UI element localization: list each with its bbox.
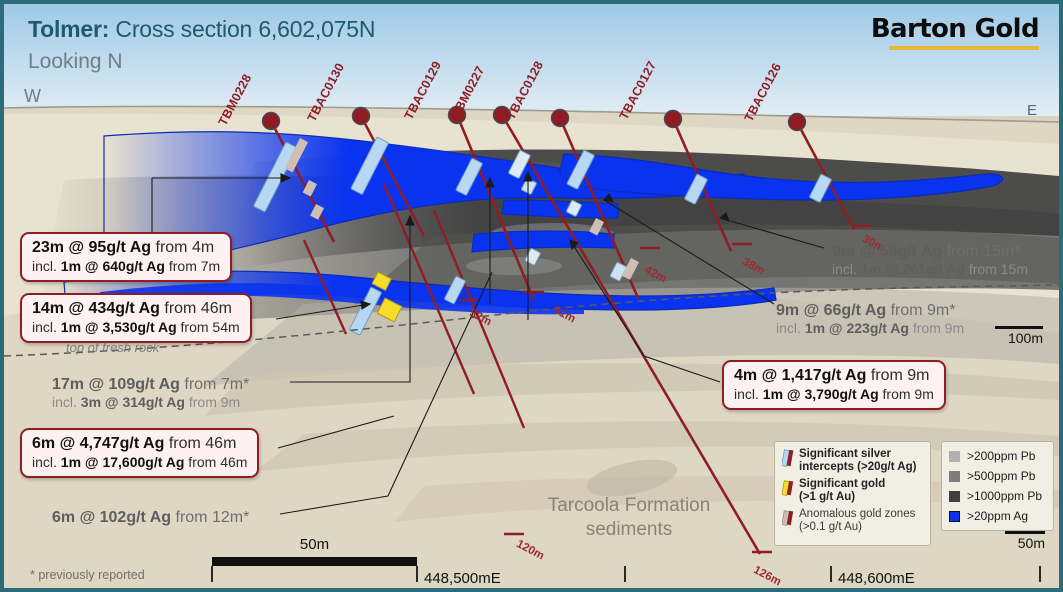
callout-incl-from: from 54m bbox=[177, 319, 240, 335]
legend-grade-row: >20ppm Ag bbox=[949, 509, 1048, 523]
logo-text: Barton Gold bbox=[871, 14, 1039, 44]
collar-TBAC0127 bbox=[665, 111, 682, 128]
au-bar-1 bbox=[372, 272, 391, 290]
note-line-2: incl. 3m @ 314g/t Ag from 9m bbox=[52, 394, 249, 411]
legend-symbol-line-1: Significant silver bbox=[799, 448, 916, 461]
callout-line-1: 14m @ 434g/t Ag from 46m bbox=[32, 300, 240, 319]
easting-tick-minor bbox=[211, 566, 213, 582]
intercept-note-p2: 6m @ 102g/t Ag from 12m* bbox=[52, 508, 249, 527]
callout-incl-from: from 7m bbox=[165, 258, 220, 274]
legend-symbols: Significant silverintercepts (>20g/t Ag)… bbox=[774, 441, 931, 546]
callout-from: from 9m bbox=[866, 367, 929, 384]
legend-grade-row: >200ppm Pb bbox=[949, 449, 1048, 463]
legend-symbol-row: Anomalous gold zones(>0.1 g/t Au) bbox=[782, 508, 924, 535]
callout-incl-interval: 1m @ 17,600g/t Ag bbox=[61, 454, 185, 470]
legend-grade-label: >500ppm Pb bbox=[967, 469, 1035, 483]
formation-line-2: sediments bbox=[509, 518, 749, 542]
east-label: E bbox=[1027, 102, 1037, 119]
ag-bar-12 bbox=[566, 200, 582, 217]
legend-symbol-line-1: Significant gold bbox=[799, 478, 885, 491]
legend-grade-swatch bbox=[949, 511, 960, 522]
easting-tick-minor bbox=[624, 566, 626, 582]
silver-intercept-icon bbox=[782, 449, 794, 472]
ag-bar-11 bbox=[525, 248, 541, 265]
anomalous-gold-icon bbox=[782, 509, 794, 532]
note-incl-interval: 1m @ 261g/t Ag bbox=[861, 261, 965, 277]
easting-label: 448,500mE bbox=[424, 570, 501, 587]
drill-collars bbox=[263, 107, 806, 131]
ag-bar-1 bbox=[253, 142, 297, 212]
note-incl-interval: 1m @ 223g/t Ag bbox=[805, 320, 909, 336]
note-interval: 6m @ 102g/t Ag bbox=[52, 509, 171, 526]
scalebar-label: 50m bbox=[212, 536, 417, 553]
legend-symbol-label: Anomalous gold zones(>0.1 g/t Au) bbox=[799, 508, 915, 535]
note-from: from 12m* bbox=[171, 509, 249, 526]
ag-bar-2 bbox=[351, 137, 389, 195]
vertical-scale-top bbox=[995, 326, 1043, 329]
callout-interval: 23m @ 95g/t Ag bbox=[32, 239, 151, 256]
leader-arrowheads bbox=[281, 172, 729, 309]
callout-incl-prefix: incl. bbox=[32, 454, 61, 470]
vertical-scale-top-label: 100m bbox=[1008, 330, 1043, 346]
callout-interval: 14m @ 434g/t Ag bbox=[32, 300, 160, 317]
au-anom-5 bbox=[589, 218, 604, 235]
intercept-callout-c2: 14m @ 434g/t Ag from 46mincl. 1m @ 3,530… bbox=[20, 293, 252, 343]
leader-p4 bbox=[604, 200, 774, 304]
note-line-2: incl. 1m @ 261g/t Ag from 15m bbox=[832, 261, 1028, 278]
au-bar-2 bbox=[377, 298, 402, 322]
easting-tick bbox=[830, 566, 832, 582]
easting-label: 448,600mE bbox=[838, 570, 915, 587]
legend-symbol-line-2: intercepts (>20g/t Ag) bbox=[799, 461, 916, 474]
page-subtitle: Looking N bbox=[28, 50, 123, 74]
collar-TBM0228 bbox=[263, 113, 280, 130]
west-label: W bbox=[24, 86, 41, 107]
page-title-rest: Cross section 6,602,075N bbox=[109, 16, 375, 42]
leader-p1 bbox=[290, 216, 410, 382]
au-anom-2 bbox=[303, 180, 317, 197]
cross-section-figure: Tolmer: Cross section 6,602,075N Looking… bbox=[0, 0, 1063, 592]
note-interval: 9m @ 66g/t Ag bbox=[776, 302, 886, 319]
trace-deep-c bbox=[304, 240, 346, 334]
note-incl-prefix: incl. bbox=[52, 394, 81, 410]
callout-incl-interval: 1m @ 640g/t Ag bbox=[61, 258, 165, 274]
easting-tick bbox=[416, 566, 418, 582]
legend-grade-label: >1000ppm Pb bbox=[967, 489, 1042, 503]
arrow-p4 bbox=[604, 194, 613, 202]
legend-grades: >200ppm Pb>500ppm Pb>1000ppm Pb>20ppm Ag bbox=[941, 441, 1054, 531]
intercept-callout-c4: 4m @ 1,417g/t Ag from 9mincl. 1m @ 3,790… bbox=[722, 360, 946, 410]
legend-symbol-label: Significant gold(>1 g/t Au) bbox=[799, 478, 885, 505]
note-incl-prefix: incl. bbox=[776, 320, 805, 336]
callout-incl-prefix: incl. bbox=[734, 386, 763, 402]
arrow-v1 bbox=[486, 178, 494, 187]
arrow-c1 bbox=[281, 174, 290, 182]
page-title: Tolmer: Cross section 6,602,075N bbox=[28, 16, 375, 43]
note-from: from 9m* bbox=[886, 302, 955, 319]
easting-tick-minor bbox=[1039, 566, 1041, 582]
collar-TBAC0126 bbox=[789, 114, 806, 131]
legend-symbol-line-1: Anomalous gold zones bbox=[799, 508, 915, 521]
callout-line-2: incl. 1m @ 17,600g/t Ag from 46m bbox=[32, 454, 247, 471]
callout-from: from 4m bbox=[151, 239, 214, 256]
formation-label: Tarcoola Formation sediments bbox=[509, 494, 749, 542]
note-incl-from: from 9m bbox=[185, 394, 240, 410]
note-incl-from: from 15m bbox=[965, 261, 1028, 277]
legend-grade-row: >500ppm Pb bbox=[949, 469, 1048, 483]
callout-line-1: 6m @ 4,747g/t Ag from 46m bbox=[32, 435, 247, 454]
legend-grade-row: >1000ppm Pb bbox=[949, 489, 1048, 503]
company-logo: Barton Gold bbox=[871, 14, 1039, 50]
callout-incl-interval: 1m @ 3,530g/t Ag bbox=[61, 319, 177, 335]
legend-symbol-line-2: (>1 g/t Au) bbox=[799, 491, 885, 504]
callout-from: from 46m bbox=[160, 300, 232, 317]
arrow-v2 bbox=[524, 172, 532, 181]
collar-TBAC0130 bbox=[353, 108, 370, 125]
intercept-note-p4: 9m @ 66g/t Ag from 9m*incl. 1m @ 223g/t … bbox=[776, 301, 964, 337]
note-line-1: 9m @ 66g/t Ag from 9m* bbox=[776, 301, 964, 320]
formation-line-1: Tarcoola Formation bbox=[509, 494, 749, 518]
note-incl-prefix: incl. bbox=[832, 261, 861, 277]
legend-grade-label: >200ppm Pb bbox=[967, 449, 1035, 463]
intercept-note-p1: 17m @ 109g/t Ag from 7m*incl. 3m @ 314g/… bbox=[52, 375, 249, 411]
callout-line-1: 4m @ 1,417g/t Ag from 9m bbox=[734, 367, 934, 386]
legend-symbol-row: Significant silverintercepts (>20g/t Ag) bbox=[782, 448, 924, 475]
legend-symbol-line-2: (>0.1 g/t Au) bbox=[799, 521, 915, 534]
collar-TBAC0128 bbox=[552, 110, 569, 127]
trace-TBAC0126 bbox=[797, 122, 854, 229]
callout-from: from 46m bbox=[164, 435, 236, 452]
legend-grade-swatch bbox=[949, 491, 960, 502]
note-line-1: 17m @ 109g/t Ag from 7m* bbox=[52, 375, 249, 394]
leader-c3 bbox=[278, 416, 394, 448]
callout-line-1: 23m @ 95g/t Ag from 4m bbox=[32, 239, 220, 258]
callout-incl-prefix: incl. bbox=[32, 319, 61, 335]
gold-intercept-icon bbox=[782, 479, 794, 502]
intercept-callout-c3: 6m @ 4,747g/t Ag from 46mincl. 1m @ 17,6… bbox=[20, 428, 259, 478]
trace-TBM0227 bbox=[502, 115, 760, 554]
note-incl-interval: 3m @ 314g/t Ag bbox=[81, 394, 185, 410]
note-incl-from: from 9m bbox=[909, 320, 964, 336]
callout-line-2: incl. 1m @ 640g/t Ag from 7m bbox=[32, 258, 220, 275]
legend-symbol-row: Significant gold(>1 g/t Au) bbox=[782, 478, 924, 505]
note-from: from 7m* bbox=[180, 376, 249, 393]
fresh-rock-label: top of fresh rock bbox=[66, 340, 159, 355]
ag-bar-5 bbox=[567, 150, 595, 189]
callout-interval: 4m @ 1,417g/t Ag bbox=[734, 367, 866, 384]
scalebar bbox=[212, 557, 417, 566]
arrow-p3 bbox=[720, 213, 729, 221]
silver-intercept-bars bbox=[253, 137, 831, 335]
footnote: * previously reported bbox=[30, 568, 145, 582]
callout-incl-from: from 46m bbox=[184, 454, 247, 470]
legend-grade-label: >20ppm Ag bbox=[967, 509, 1028, 523]
callout-line-2: incl. 1m @ 3,790g/t Ag from 9m bbox=[734, 386, 934, 403]
callout-incl-from: from 9m bbox=[879, 386, 934, 402]
note-interval: 17m @ 109g/t Ag bbox=[52, 376, 180, 393]
note-interval: 9m @ 59g/t Ag bbox=[832, 243, 942, 260]
note-line-2: incl. 1m @ 223g/t Ag from 9m bbox=[776, 320, 964, 337]
legend-grade-swatch bbox=[949, 471, 960, 482]
callout-incl-interval: 1m @ 3,790g/t Ag bbox=[763, 386, 879, 402]
callout-incl-prefix: incl. bbox=[32, 258, 61, 274]
ag-bar-3 bbox=[456, 158, 483, 196]
note-line-1: 6m @ 102g/t Ag from 12m* bbox=[52, 508, 249, 527]
trace-TBAC0129 bbox=[457, 115, 534, 300]
vertical-scale-bottom-label: 50m bbox=[1018, 535, 1045, 551]
vertical-scale-bottom bbox=[1005, 531, 1045, 534]
legend-symbol-label: Significant silverintercepts (>20g/t Ag) bbox=[799, 448, 916, 475]
callout-interval: 6m @ 4,747g/t Ag bbox=[32, 435, 164, 452]
intercept-note-p3: 9m @ 59g/t Ag from 15m*incl. 1m @ 261g/t… bbox=[832, 242, 1028, 278]
ag-bar-7 bbox=[809, 174, 831, 203]
callout-line-2: incl. 1m @ 3,530g/t Ag from 54m bbox=[32, 319, 240, 336]
legend-grade-swatch bbox=[949, 451, 960, 462]
note-line-1: 9m @ 59g/t Ag from 15m* bbox=[832, 242, 1028, 261]
note-from: from 15m* bbox=[942, 243, 1020, 260]
page-title-bold: Tolmer: bbox=[28, 16, 109, 42]
logo-underline bbox=[889, 46, 1039, 50]
intercept-callout-c1: 23m @ 95g/t Ag from 4mincl. 1m @ 640g/t … bbox=[20, 232, 232, 282]
